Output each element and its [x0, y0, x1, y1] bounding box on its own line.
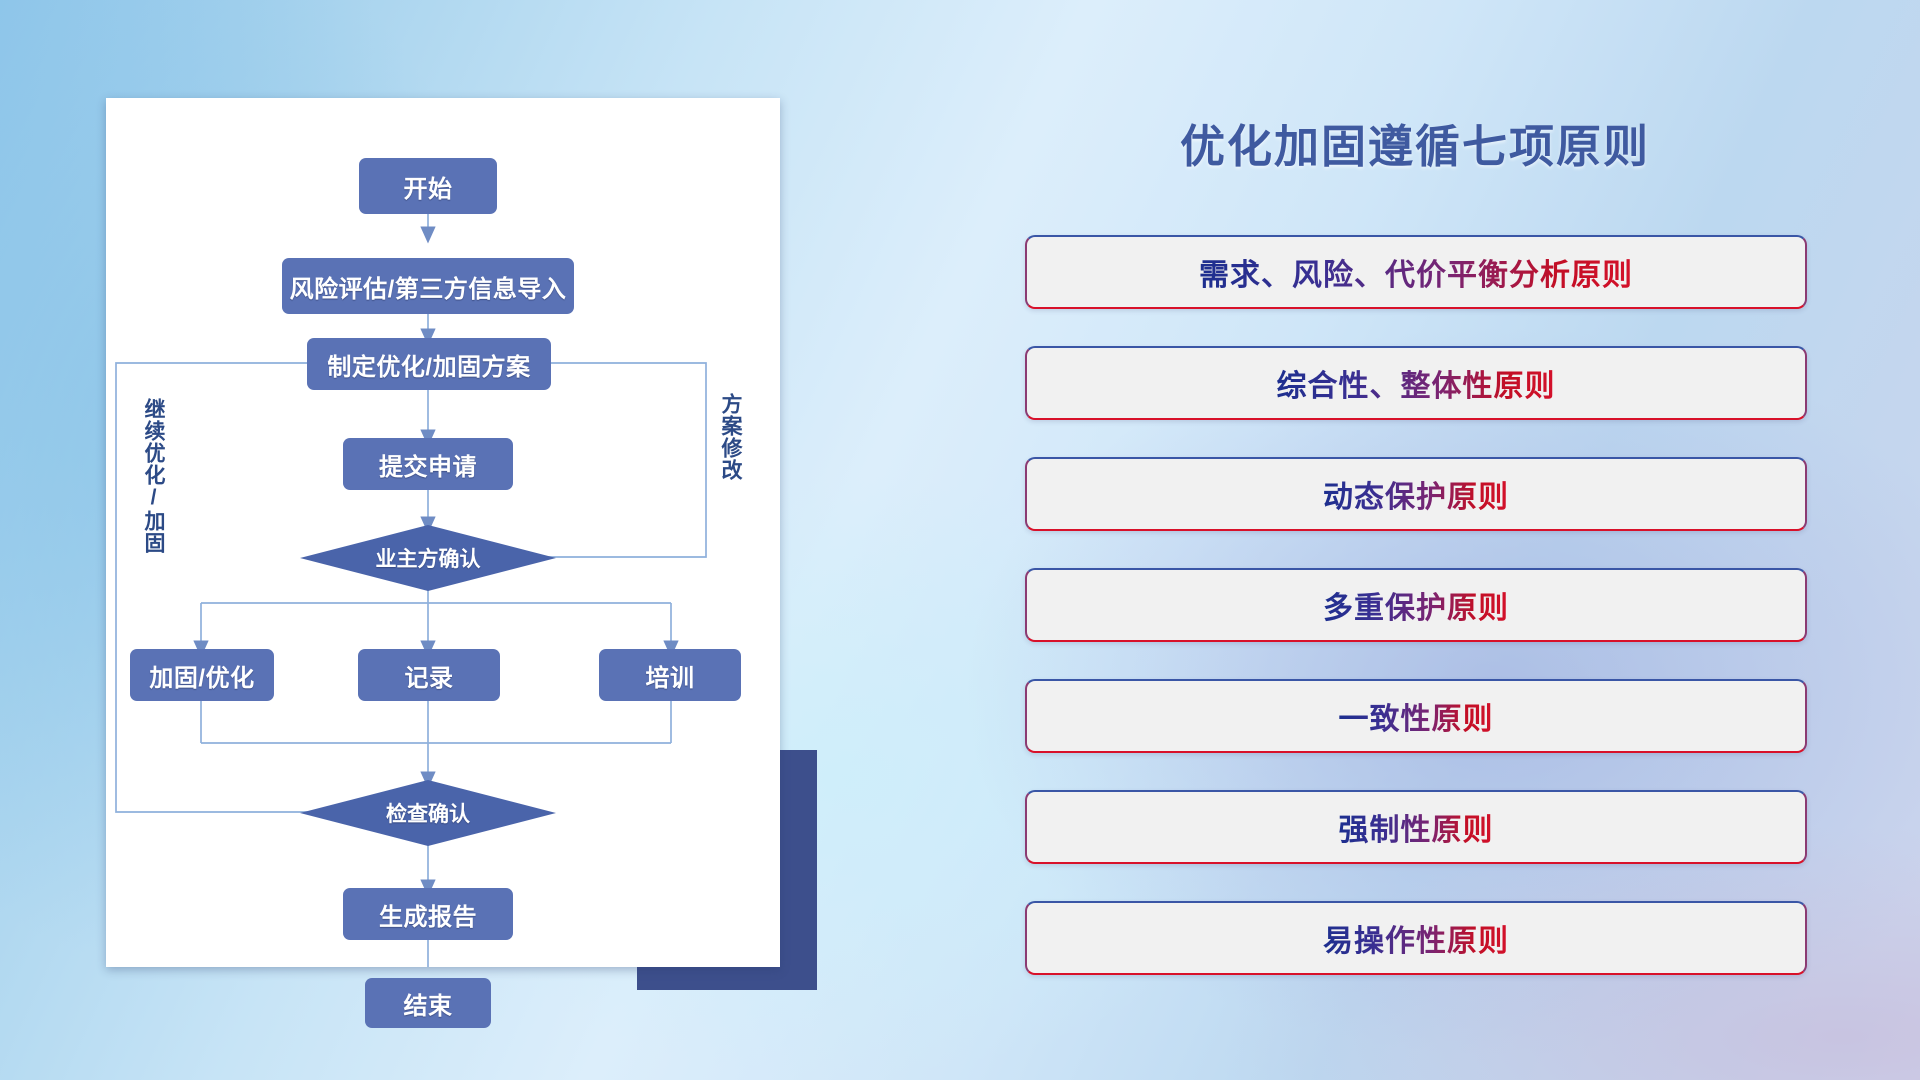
- principle-item-3[interactable]: 动态保护原则: [1025, 457, 1807, 531]
- principle-label: 动态保护原则: [1323, 472, 1509, 516]
- flow-label-continue-optimize: 继续优化/加固: [142, 398, 164, 598]
- principles-panel: 优化加固遵循七项原则 需求、风险、代价平衡分析原则 综合性、整体性原则 动态保护…: [1020, 0, 1920, 1080]
- flow-node-risk-assessment[interactable]: 风险评估/第三方信息导入: [282, 258, 574, 314]
- flow-label-plan-revision: 方案修改: [719, 393, 741, 543]
- flow-node-training[interactable]: 培训: [599, 649, 741, 701]
- principle-item-2[interactable]: 综合性、整体性原则: [1025, 346, 1807, 420]
- principle-item-6[interactable]: 强制性原则: [1025, 790, 1807, 864]
- principle-item-1[interactable]: 需求、风险、代价平衡分析原则: [1025, 235, 1807, 309]
- flow-node-reinforce-optimize[interactable]: 加固/优化: [130, 649, 274, 701]
- principle-label: 一致性原则: [1339, 694, 1494, 738]
- principle-item-7[interactable]: 易操作性原则: [1025, 901, 1807, 975]
- flow-node-record[interactable]: 记录: [358, 649, 500, 701]
- flow-node-generate-report[interactable]: 生成报告: [343, 888, 513, 940]
- principle-label: 强制性原则: [1339, 805, 1494, 849]
- principle-item-5[interactable]: 一致性原则: [1025, 679, 1807, 753]
- flowchart-diagram: 开始 风险评估/第三方信息导入 制定优化/加固方案 提交申请 业主方确认 加固/…: [106, 98, 780, 967]
- flow-node-end[interactable]: 结束: [365, 978, 491, 1028]
- flow-node-start[interactable]: 开始: [359, 158, 497, 214]
- flowchart-card: 开始 风险评估/第三方信息导入 制定优化/加固方案 提交申请 业主方确认 加固/…: [106, 98, 780, 967]
- principle-label: 需求、风险、代价平衡分析原则: [1199, 250, 1633, 294]
- principle-label: 易操作性原则: [1323, 916, 1509, 960]
- principle-label: 多重保护原则: [1323, 583, 1509, 627]
- flow-node-plan[interactable]: 制定优化/加固方案: [307, 338, 551, 390]
- principle-item-4[interactable]: 多重保护原则: [1025, 568, 1807, 642]
- page-title: 优化加固遵循七项原则: [1020, 110, 1810, 175]
- principle-label: 综合性、整体性原则: [1277, 361, 1556, 405]
- flow-node-submit-application[interactable]: 提交申请: [343, 438, 513, 490]
